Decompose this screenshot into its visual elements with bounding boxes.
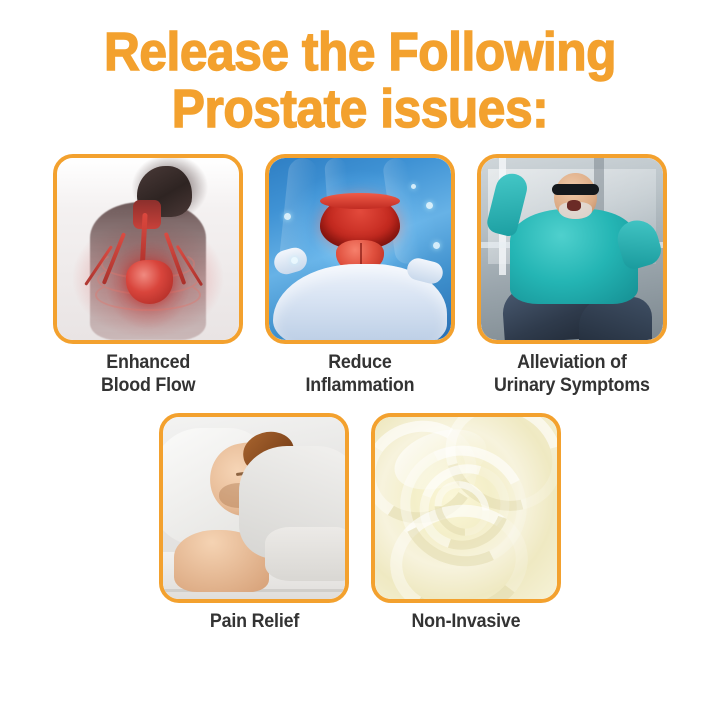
sparkle-icon — [426, 202, 433, 209]
sunglasses-icon — [552, 184, 599, 195]
sparkle-icon — [284, 213, 291, 220]
sparkle-icon — [291, 257, 298, 264]
benefit-thumbnail-frame — [477, 154, 667, 344]
gloved-hand-prostate-image — [269, 158, 451, 340]
benefit-card-enhanced-blood-flow[interactable]: Enhanced Blood Flow — [53, 154, 243, 397]
benefit-row-top: Enhanced Blood Flow — [53, 154, 667, 397]
blanket-shape — [265, 527, 345, 582]
benefit-caption: Enhanced Blood Flow — [101, 352, 195, 397]
benefit-card-reduce-inflammation[interactable]: Reduce Inflammation — [265, 154, 455, 397]
sparkle-icon — [411, 184, 416, 189]
open-mouth-shape — [567, 200, 582, 211]
cream-swirl-image — [375, 417, 557, 599]
page-title-line-1: Release the Following — [66, 24, 655, 81]
benefit-card-pain-relief[interactable]: Pain Relief — [159, 413, 349, 633]
benefit-caption: Alleviation of Urinary Symptoms — [494, 352, 650, 397]
infographic-poster: Release the Following Prostate issues: — [0, 0, 720, 720]
benefit-card-alleviation-of-urinary-symptoms[interactable]: Alleviation of Urinary Symptoms — [477, 154, 667, 397]
benefit-row-bottom: Pain Relief Non-Invasive — [159, 413, 561, 633]
benefit-card-non-invasive[interactable]: Non-Invasive — [371, 413, 561, 633]
benefit-caption: Pain Relief — [209, 611, 298, 633]
benefit-thumbnail-frame — [371, 413, 561, 603]
benefit-thumbnail-frame — [159, 413, 349, 603]
sleeping-man-image — [163, 417, 345, 599]
sparkle-icon — [433, 242, 440, 249]
benefit-thumbnail-frame — [265, 154, 455, 344]
page-title-line-2: Prostate issues: — [66, 81, 655, 138]
page-title: Release the Following Prostate issues: — [66, 24, 655, 138]
benefit-card-grid: Enhanced Blood Flow — [0, 154, 720, 633]
happy-senior-man-image — [481, 158, 663, 340]
teal-shirt-shape — [510, 209, 637, 304]
anatomical-circulatory-system-image — [57, 158, 239, 340]
benefit-caption: Reduce Inflammation — [306, 352, 415, 397]
benefit-thumbnail-frame — [53, 154, 243, 344]
benefit-caption: Non-Invasive — [412, 611, 521, 633]
